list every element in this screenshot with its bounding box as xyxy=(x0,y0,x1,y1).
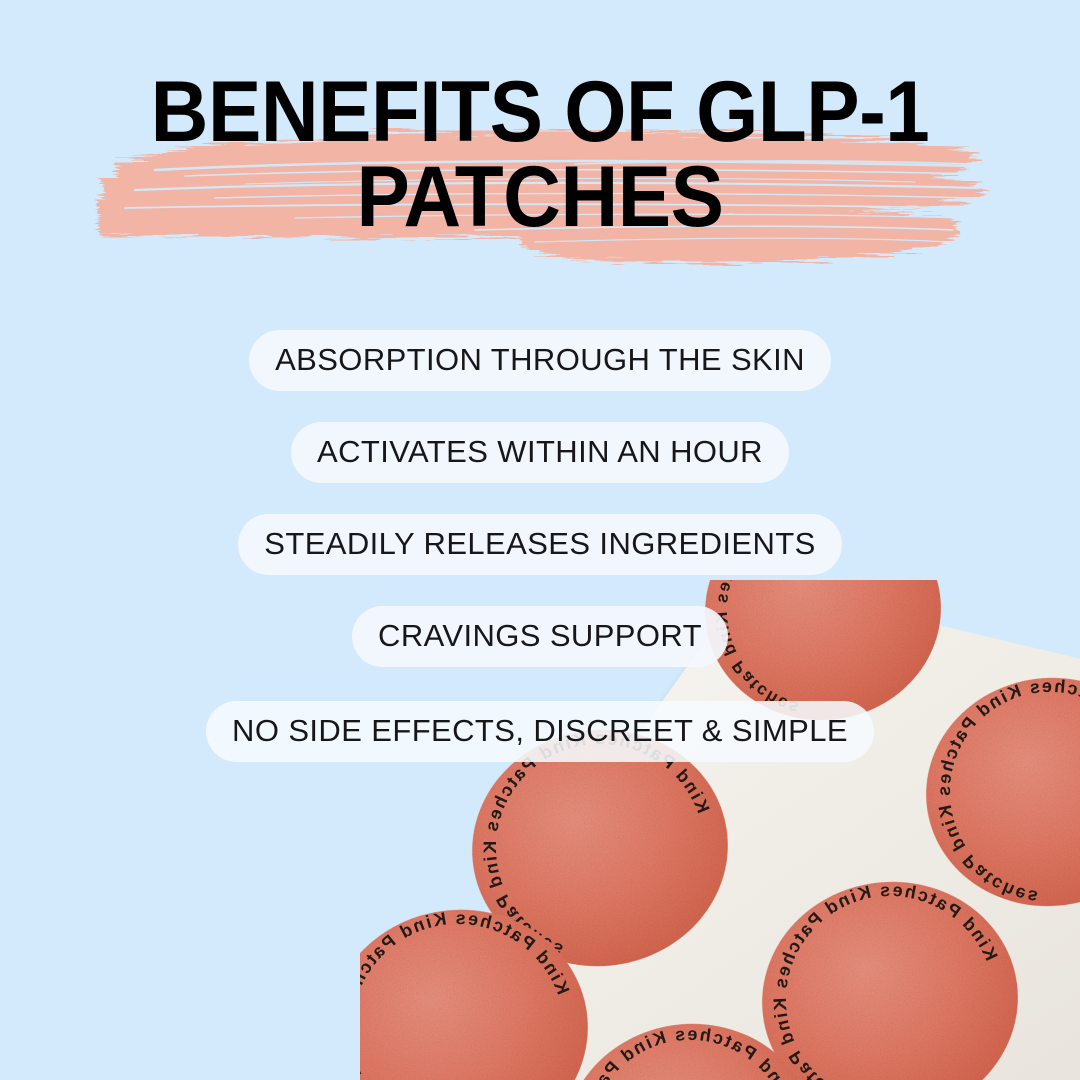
benefit-row: ABSORPTION THROUGH THE SKIN xyxy=(0,330,1080,391)
benefit-pill-releases: STEADILY RELEASES INGREDIENTS xyxy=(238,514,841,575)
benefit-row: CRAVINGS SUPPORT xyxy=(0,606,1080,667)
benefit-row: STEADILY RELEASES INGREDIENTS xyxy=(0,514,1080,575)
poster-canvas: Kind Patches Kind Patches Kind Patches K… xyxy=(0,0,1080,1080)
benefit-pill-activates: ACTIVATES WITHIN AN HOUR xyxy=(291,422,789,483)
benefit-row: NO SIDE EFFECTS, DISCREET & SIMPLE xyxy=(0,701,1080,762)
benefit-pill-cravings: CRAVINGS SUPPORT xyxy=(352,606,728,667)
title-line-2: PATCHES xyxy=(38,155,1042,240)
benefit-pill-no-side-effects: NO SIDE EFFECTS, DISCREET & SIMPLE xyxy=(206,701,874,762)
title-line-1: BENEFITS OF GLP-1 xyxy=(38,70,1042,155)
page-title: BENEFITS OF GLP-1 PATCHES xyxy=(0,70,1080,240)
benefit-row: ACTIVATES WITHIN AN HOUR xyxy=(0,422,1080,483)
benefit-pill-absorption: ABSORPTION THROUGH THE SKIN xyxy=(249,330,831,391)
